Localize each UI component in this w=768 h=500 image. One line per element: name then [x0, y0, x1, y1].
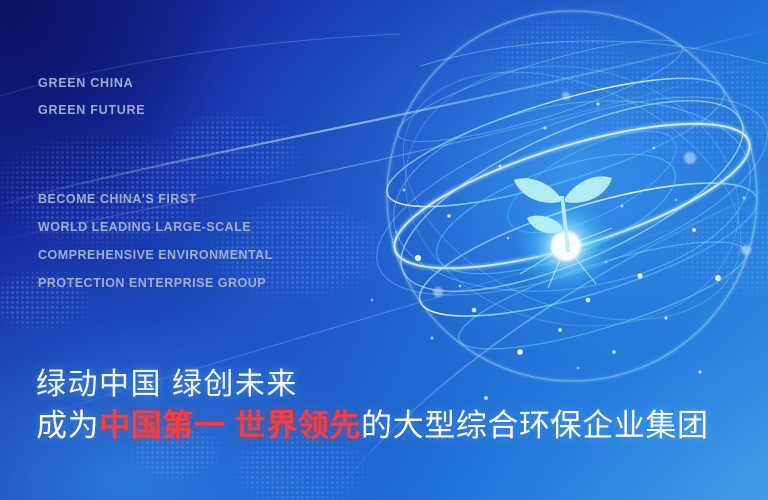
headline-accent-world-leading: 世界领先 — [235, 408, 361, 443]
mission-block: BECOME CHINA'S FIRST WORLD LEADING LARGE… — [38, 185, 273, 297]
headline-suffix: 的大型综合环保企业集团 — [361, 408, 709, 443]
headline-accent-china-first: 中国第一 — [99, 408, 225, 443]
mission-line-2: WORLD LEADING LARGE-SCALE — [38, 213, 273, 241]
tagline-line-1: GREEN CHINA — [38, 70, 145, 97]
headline-line-2: 成为中国第一世界领先的大型综合环保企业集团 — [36, 404, 709, 448]
headline-block: 绿动中国 绿创未来 成为中国第一世界领先的大型综合环保企业集团 — [36, 366, 709, 448]
mission-line-1: BECOME CHINA'S FIRST — [38, 185, 273, 213]
mission-line-3: COMPREHENSIVE ENVIRONMENTAL — [38, 241, 273, 269]
environmental-group-banner: GREEN CHINA GREEN FUTURE BECOME CHINA'S … — [0, 0, 768, 500]
tagline-block: GREEN CHINA GREEN FUTURE — [38, 70, 145, 124]
mission-line-4: PROTECTION ENTERPRISE GROUP — [38, 269, 273, 297]
headline-prefix: 成为 — [36, 408, 99, 443]
tagline-line-2: GREEN FUTURE — [38, 97, 145, 124]
headline-line-1: 绿动中国 绿创未来 — [36, 366, 709, 404]
